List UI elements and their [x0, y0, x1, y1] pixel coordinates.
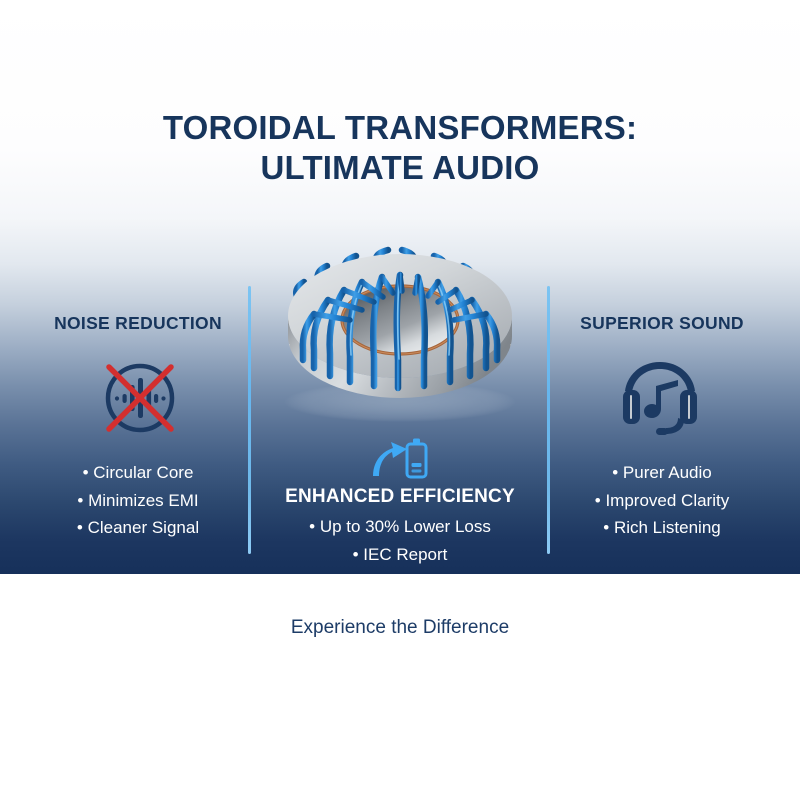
list-item: • IEC Report: [250, 541, 550, 569]
battery-cap-icon: [413, 439, 420, 444]
list-item: • Purer Audio: [538, 459, 786, 487]
list-item: • Minimizes EMI: [14, 487, 262, 515]
infographic-poster: TOROIDAL TRANSFORMERS: ULTIMATE AUDIO: [0, 0, 800, 800]
tagline: Experience the Difference: [0, 617, 800, 639]
title-line-2: ULTIMATE AUDIO: [0, 148, 800, 188]
list-item: • Cleaner Signal: [14, 514, 262, 542]
no-noise-icon: [98, 356, 182, 440]
music-note-icon: [644, 380, 678, 418]
column-heading-enhanced-efficiency: ENHANCED EFFICIENCY: [250, 486, 550, 508]
list-item: • Improved Clarity: [538, 487, 786, 515]
battery-arrow-icon: [371, 436, 429, 482]
column-heading-noise-reduction: NOISE REDUCTION: [14, 313, 262, 334]
column-heading-superior-sound: SUPERIOR SOUND: [538, 313, 786, 334]
boom-mic-icon: [666, 418, 684, 434]
page-title: TOROIDAL TRANSFORMERS: ULTIMATE AUDIO: [0, 108, 800, 188]
bullet-list-enhanced-efficiency: • Up to 30% Lower Loss • IEC Report: [250, 513, 550, 568]
list-item: • Circular Core: [14, 459, 262, 487]
bullet-list-superior-sound: • Purer Audio • Improved Clarity • Rich …: [538, 459, 786, 542]
list-item: • Rich Listening: [538, 514, 786, 542]
bottom-white-strip: [0, 574, 800, 800]
headset-music-icon: [616, 360, 704, 438]
list-item: • Up to 30% Lower Loss: [250, 513, 550, 541]
up-arrow-icon: [373, 442, 407, 476]
bullet-list-noise-reduction: • Circular Core • Minimizes EMI • Cleane…: [14, 459, 262, 542]
title-line-1: TOROIDAL TRANSFORMERS:: [0, 108, 800, 148]
toroidal-transformer-illustration: [278, 224, 522, 428]
mic-tip-icon: [656, 428, 668, 435]
